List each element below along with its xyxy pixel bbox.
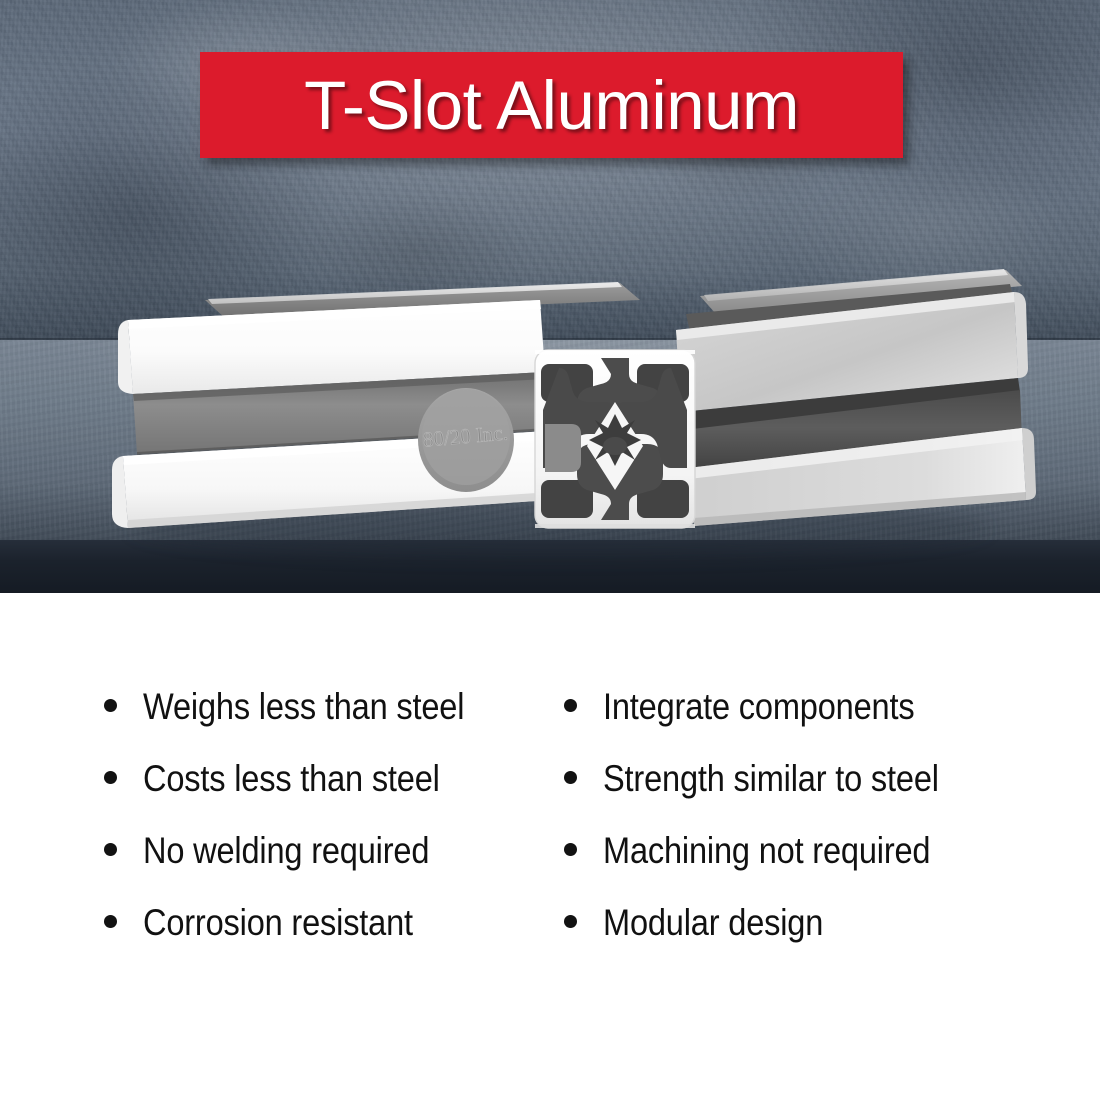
profile-top-edge-highlight: [535, 350, 695, 354]
left-arm-stub: [545, 424, 581, 472]
benefits-column-left: Weighs less than steel Costs less than s…: [0, 688, 550, 1100]
benefits-column-right: Integrate components Strength similar to…: [550, 688, 1100, 1100]
benefit-label: Weighs less than steel: [143, 688, 464, 725]
bullet-icon: [104, 699, 117, 712]
benefit-label: Strength similar to steel: [603, 760, 939, 797]
list-item: Strength similar to steel: [564, 760, 1100, 832]
benefits-section: Weighs less than steel Costs less than s…: [0, 593, 1100, 1100]
profile-cross-section: [535, 350, 695, 528]
bullet-icon: [564, 843, 577, 856]
benefit-label: Costs less than steel: [143, 760, 440, 797]
bullet-icon: [104, 843, 117, 856]
end-cap: 80/20 Inc.: [418, 388, 514, 492]
benefit-label: Machining not required: [603, 832, 930, 869]
list-item: Costs less than steel: [104, 760, 550, 832]
benefit-label: Corrosion resistant: [143, 904, 413, 941]
title-banner: T-Slot Aluminum: [200, 52, 903, 158]
bullet-icon: [104, 915, 117, 928]
infographic-page: 80/20 Inc.: [0, 0, 1100, 1100]
list-item: Corrosion resistant: [104, 904, 550, 976]
benefit-label: No welding required: [143, 832, 429, 869]
list-item: Modular design: [564, 904, 1100, 976]
bullet-icon: [564, 771, 577, 784]
right-arm: [676, 269, 1036, 526]
list-item: No welding required: [104, 832, 550, 904]
list-item: Weighs less than steel: [104, 688, 550, 760]
list-item: Machining not required: [564, 832, 1100, 904]
list-item: Integrate components: [564, 688, 1100, 760]
core-center-hole: [603, 437, 627, 455]
page-title: T-Slot Aluminum: [304, 71, 799, 140]
benefit-label: Integrate components: [603, 688, 914, 725]
benefit-label: Modular design: [603, 904, 823, 941]
bullet-icon: [564, 915, 577, 928]
profile-bottom-edge-shade: [535, 524, 695, 528]
bullet-icon: [564, 699, 577, 712]
bullet-icon: [104, 771, 117, 784]
